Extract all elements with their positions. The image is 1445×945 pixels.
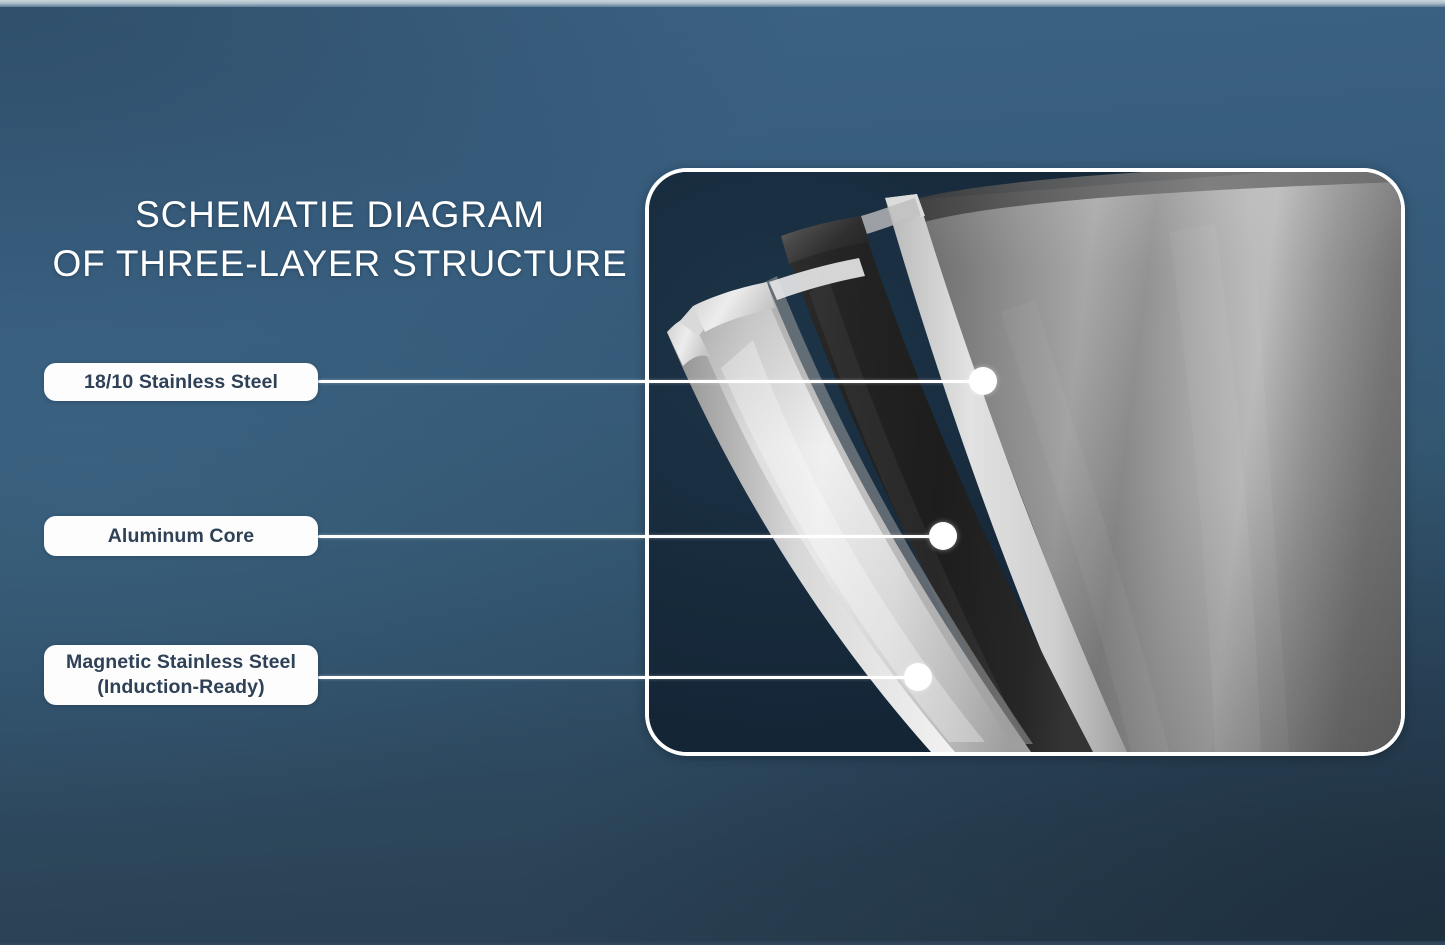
cookware-cross-section-illustration	[649, 172, 1401, 752]
diagram-canvas: SCHEMATIE DIAGRAM OF THREE-LAYER STRUCTU…	[0, 0, 1445, 945]
page-title: SCHEMATIE DIAGRAM OF THREE-LAYER STRUCTU…	[40, 190, 640, 288]
leader-line-magnetic-stainless-steel	[318, 676, 918, 679]
cookware-cross-section-panel	[645, 168, 1405, 756]
top-edge-strip	[0, 0, 1445, 7]
label-aluminum-core[interactable]: Aluminum Core	[44, 516, 318, 556]
leader-line-aluminum-core	[318, 535, 943, 538]
callout-dot-stainless-steel	[969, 367, 997, 395]
label-magnetic-stainless-steel[interactable]: Magnetic Stainless Steel (Induction-Read…	[44, 645, 318, 705]
bottom-edge-strip	[0, 941, 1445, 945]
callout-dot-aluminum-core	[929, 522, 957, 550]
callout-dot-magnetic-stainless-steel	[904, 663, 932, 691]
label-stainless-steel[interactable]: 18/10 Stainless Steel	[44, 363, 318, 401]
leader-line-stainless-steel	[318, 380, 983, 383]
